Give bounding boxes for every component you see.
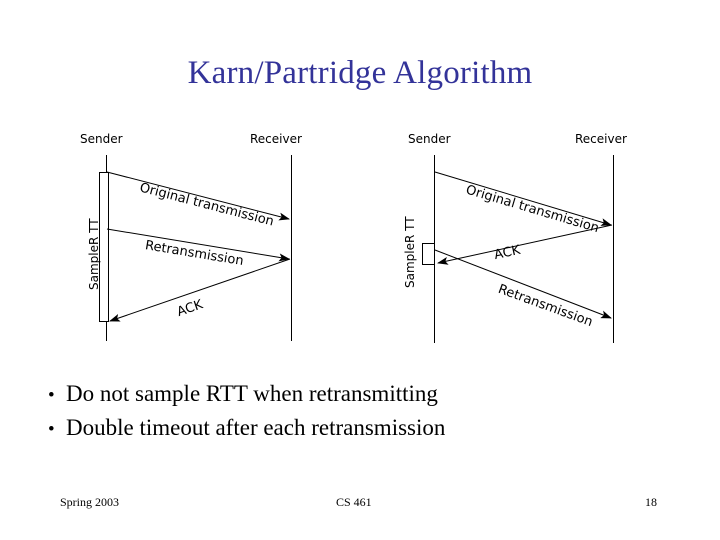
bullet-text-1: Do not sample RTT when retransmitting xyxy=(66,378,438,410)
bullet-item-1: • Do not sample RTT when retransmitting xyxy=(48,378,668,412)
footer-page-number: 18 xyxy=(645,494,657,510)
diagram-right: Sender Receiver SampleR TT Original tran… xyxy=(388,0,688,360)
bullet-list: • Do not sample RTT when retransmitting … xyxy=(48,378,668,446)
diagram-left-arrows xyxy=(60,0,360,360)
diagram-left: Sender Receiver SampleR TT Original tran… xyxy=(60,0,360,360)
footer-term: Spring 2003 xyxy=(60,494,119,510)
footer-course: CS 461 xyxy=(336,494,372,510)
bullet-marker-icon: • xyxy=(48,414,66,446)
slide-footer: Spring 2003 CS 461 18 xyxy=(0,494,720,512)
slide-canvas: Karn/Partridge Algorithm Sender Receiver… xyxy=(0,0,720,540)
bullet-item-2: • Double timeout after each retransmissi… xyxy=(48,412,668,446)
bullet-marker-icon: • xyxy=(48,380,66,412)
bullet-text-2: Double timeout after each retransmission xyxy=(66,412,445,444)
